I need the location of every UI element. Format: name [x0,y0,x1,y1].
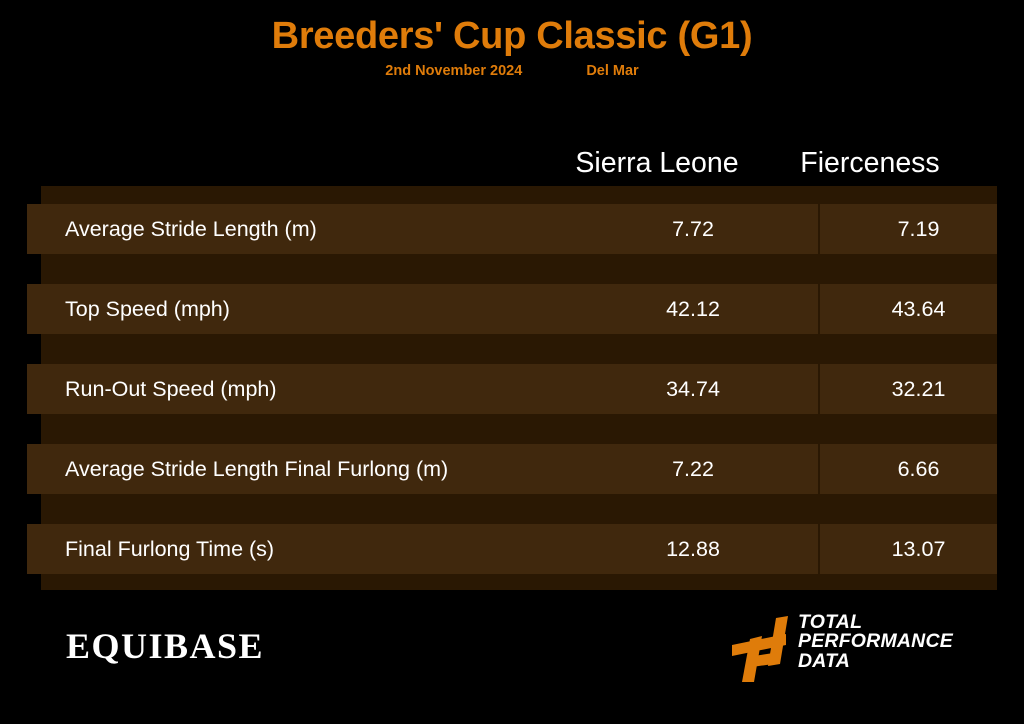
metric-value-horse-1: 12.88 [568,524,818,574]
tpd-logo-line-2: PERFORMANCE [798,632,953,651]
metric-label: Top Speed (mph) [65,284,230,334]
equibase-logo: EQUIBASE [66,628,264,664]
metric-label: Average Stride Length (m) [65,204,317,254]
stats-table: Average Stride Length (m) 7.72 7.19 Top … [41,186,997,590]
table-row: Final Furlong Time (s) 12.88 13.07 [27,524,997,574]
table-row: Average Stride Length Final Furlong (m) … [27,444,997,494]
metric-label: Average Stride Length Final Furlong (m) [65,444,448,494]
race-date: 2nd November 2024 [385,63,522,79]
metric-value-horse-2: 7.19 [820,204,1017,254]
metric-label: Final Furlong Time (s) [65,524,274,574]
race-venue: Del Mar [586,63,638,79]
metric-value-horse-1: 42.12 [568,284,818,334]
metric-value-horse-1: 7.22 [568,444,818,494]
metric-value-horse-1: 7.72 [568,204,818,254]
metric-value-horse-2: 13.07 [820,524,1017,574]
page-title: Breeders' Cup Classic (G1) [0,0,1024,57]
metric-label: Run-Out Speed (mph) [65,364,277,414]
metric-value-horse-2: 32.21 [820,364,1017,414]
table-column-headers: Sierra Leone Fierceness [0,140,1024,186]
table-row: Run-Out Speed (mph) 34.74 32.21 [27,364,997,414]
total-performance-data-logo: TOTAL PERFORMANCE DATA [730,608,980,688]
column-header-horse-2: Fierceness [772,140,968,186]
metric-value-horse-2: 43.64 [820,284,1017,334]
tpd-logo-line-3: DATA [798,652,953,671]
metric-value-horse-2: 6.66 [820,444,1017,494]
tpd-monogram-icon [730,612,800,684]
table-row: Top Speed (mph) 42.12 43.64 [27,284,997,334]
metric-value-horse-1: 34.74 [568,364,818,414]
column-header-horse-1: Sierra Leone [527,140,787,186]
race-meta: 2nd November 2024 Del Mar [0,63,1024,79]
tpd-logo-text: TOTAL PERFORMANCE DATA [798,613,953,671]
page-header: Breeders' Cup Classic (G1) 2nd November … [0,0,1024,79]
table-row: Average Stride Length (m) 7.72 7.19 [27,204,997,254]
